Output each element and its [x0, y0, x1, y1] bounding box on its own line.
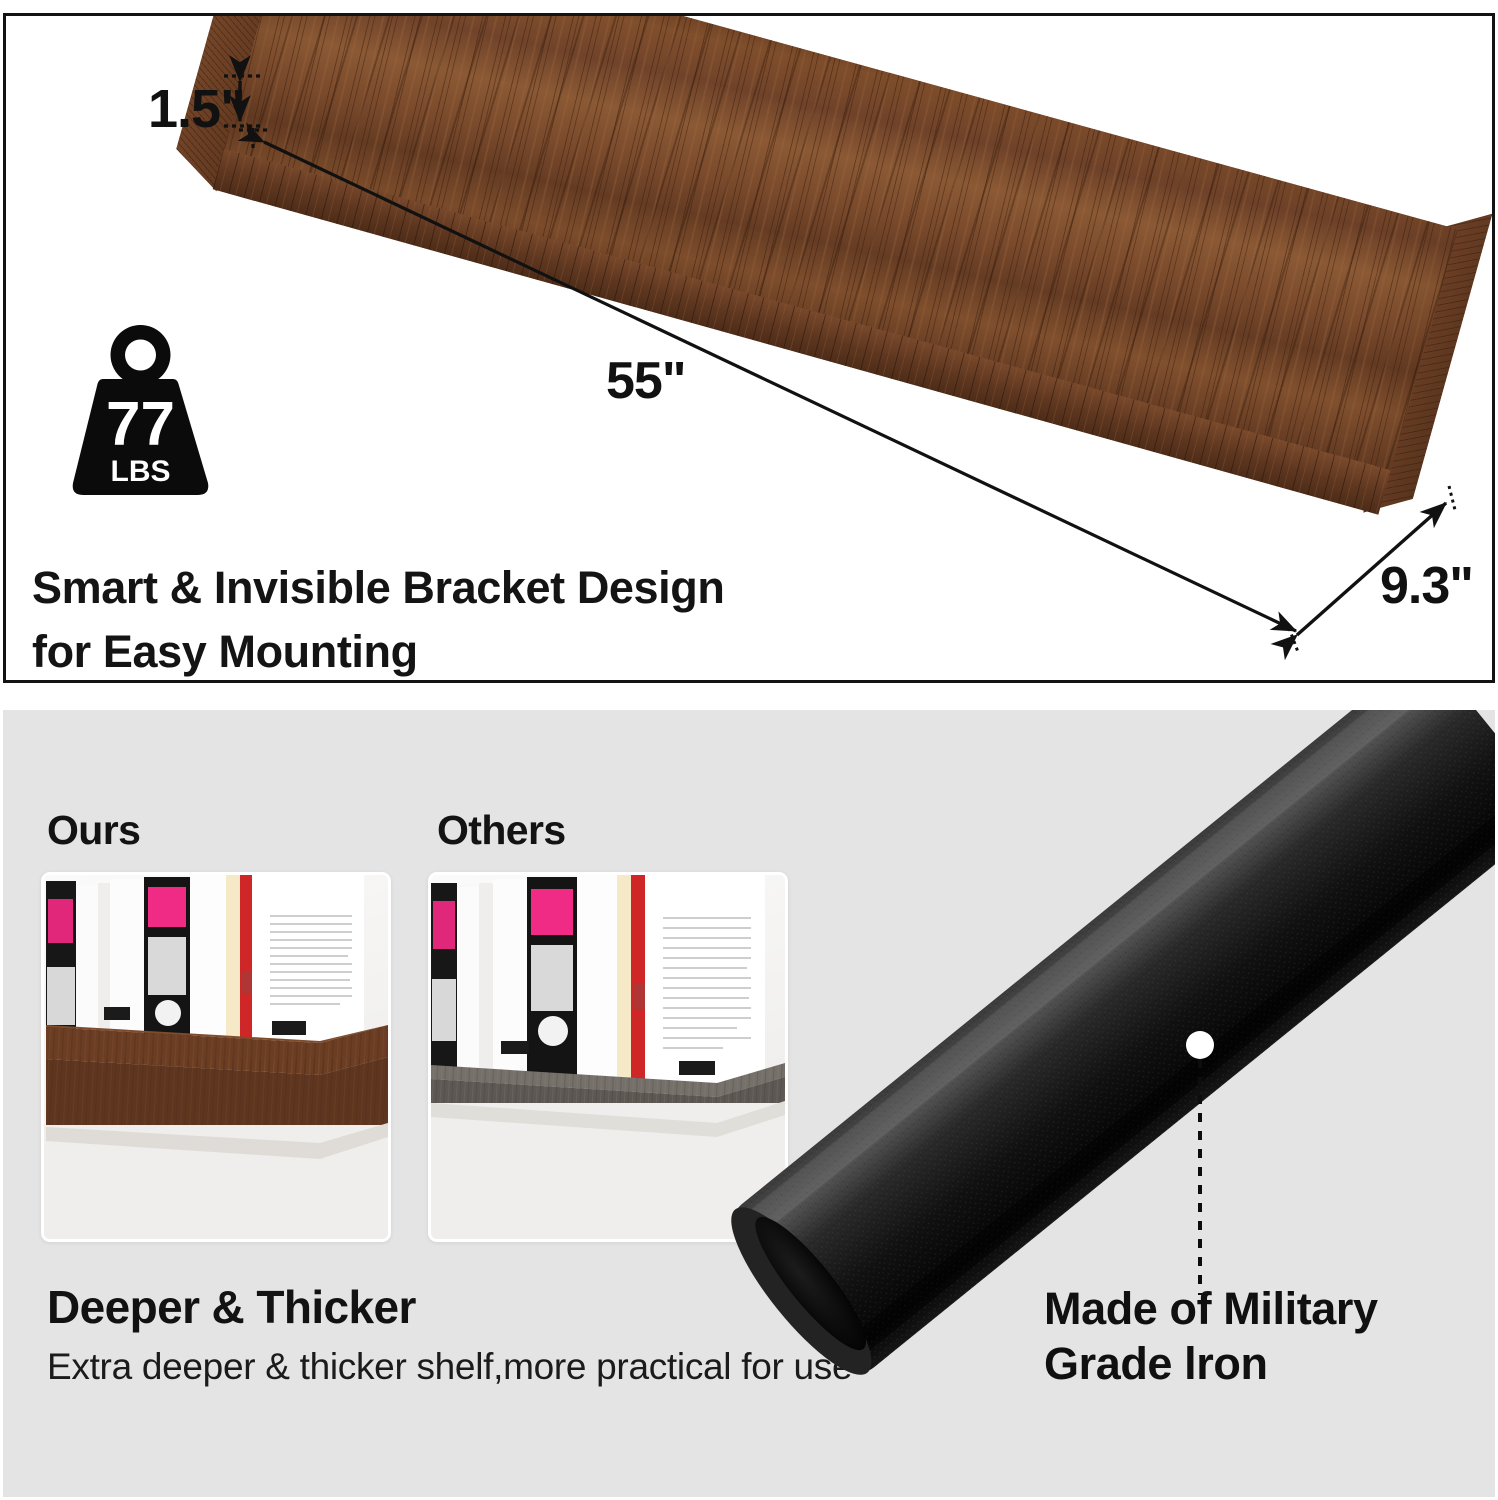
- top-panel: 1.5" 55" 9.3" 77 LBS Smart & Invisible B…: [3, 13, 1495, 683]
- callout-dot: [1186, 1031, 1214, 1059]
- depth-label: 9.3": [1380, 556, 1473, 616]
- headline-line-1: Smart & Invisible Bracket Design: [32, 556, 882, 620]
- length-label: 55": [606, 351, 686, 411]
- product-infographic: 1.5" 55" 9.3" 77 LBS Smart & Invisible B…: [0, 0, 1498, 1500]
- rod-caption: Made of Military Grade lron: [1044, 1282, 1378, 1392]
- rod-caption-line-1: Made of Military: [1044, 1282, 1378, 1337]
- headline-line-2: for Easy Mounting: [32, 620, 882, 683]
- bottom-panel: Ours Others: [3, 710, 1495, 1497]
- weight-value: 77: [106, 390, 175, 459]
- rod-caption-line-2: Grade lron: [1044, 1337, 1378, 1392]
- thickness-label: 1.5": [148, 78, 245, 140]
- weight-icon: 77 LBS: [63, 321, 218, 501]
- headline: Smart & Invisible Bracket Design for Eas…: [32, 556, 882, 683]
- weight-capacity-badge: 77 LBS: [63, 321, 218, 501]
- weight-unit: LBS: [111, 455, 171, 488]
